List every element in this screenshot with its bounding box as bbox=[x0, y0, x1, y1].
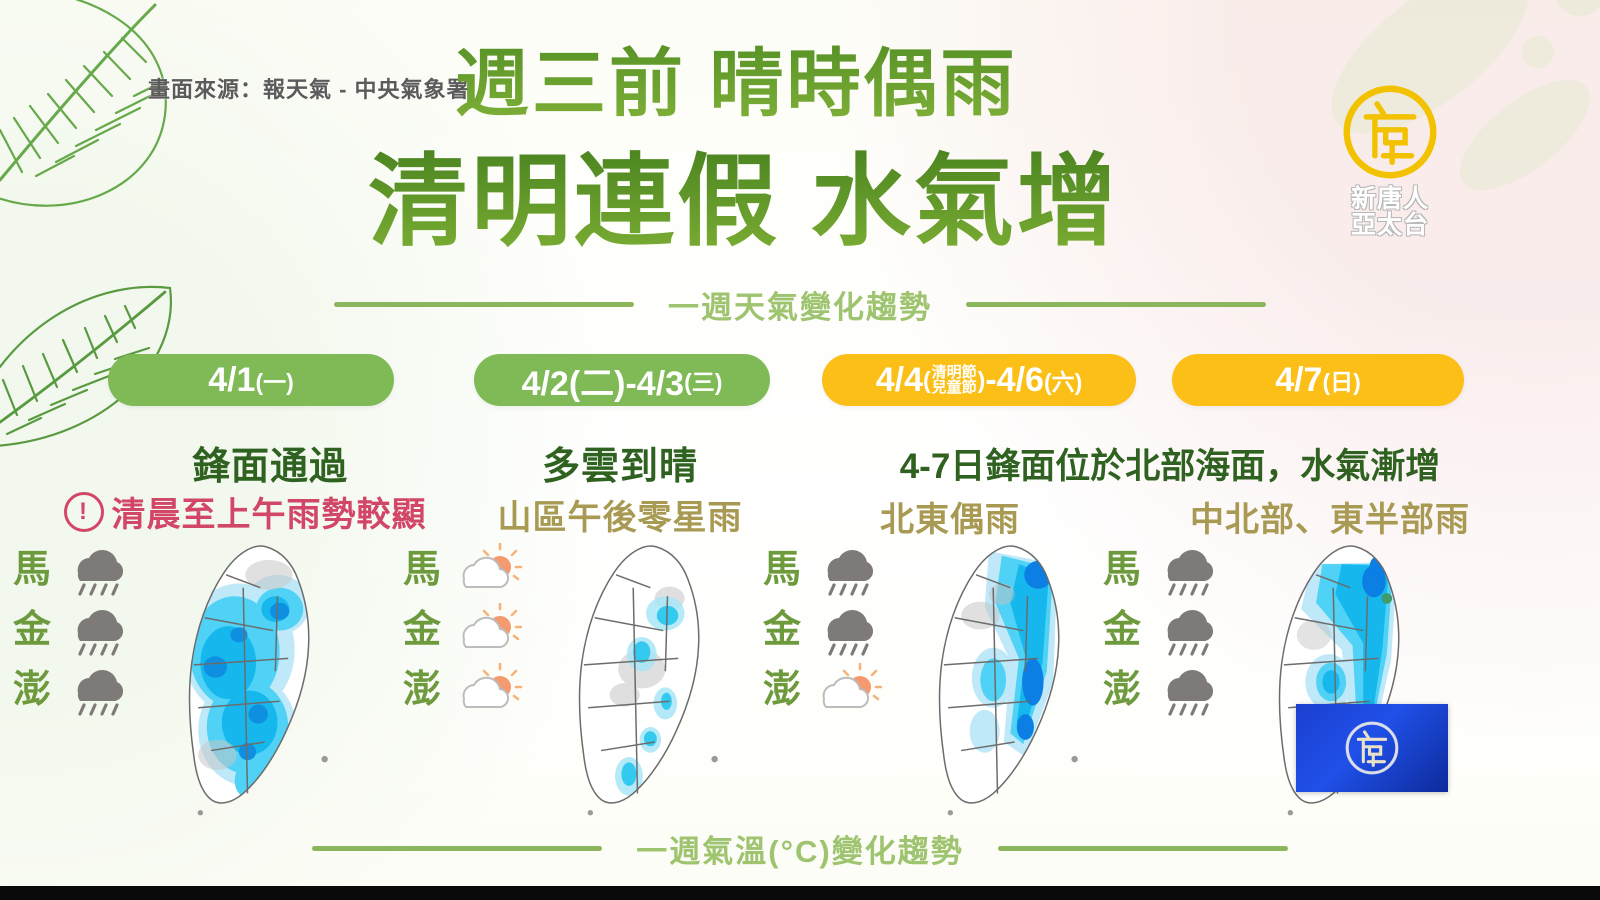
island-row-kinmen: 金 bbox=[400, 600, 530, 660]
island-label-matsu: 馬 bbox=[760, 551, 804, 589]
forecast-column-3: 馬 金 澎 bbox=[760, 540, 1120, 830]
date-pill-1-weekday: (一) bbox=[255, 363, 293, 397]
rain-cloud-icon bbox=[1150, 663, 1222, 717]
tang-circle-icon bbox=[1341, 717, 1403, 779]
island-row-kinmen: 金 bbox=[1100, 600, 1230, 660]
island-label-penghu: 澎 bbox=[10, 671, 54, 709]
date-pill-3-paren-close: ) bbox=[978, 367, 986, 394]
bottom-letterbox-bar bbox=[0, 886, 1600, 900]
taiwan-map-3 bbox=[890, 532, 1105, 832]
date-pill-4[interactable]: 4/7(日) bbox=[1172, 354, 1464, 406]
island-label-matsu: 馬 bbox=[10, 551, 54, 589]
forecast-column-1: 馬 金 澎 bbox=[10, 540, 370, 830]
headline-line-2: 清明連假 水氣增 bbox=[368, 120, 1120, 265]
date-pill-3-paren-open: ( bbox=[923, 367, 931, 394]
island-row-matsu: 馬 bbox=[400, 540, 530, 600]
island-label-kinmen: 金 bbox=[760, 611, 804, 649]
island-row-matsu: 馬 bbox=[760, 540, 890, 600]
date-pill-3-holiday-stack: 清明節 兒童節 bbox=[932, 365, 977, 395]
channel-name-line1: 新唐人 bbox=[1300, 187, 1480, 213]
island-list-4: 馬 金 澎 bbox=[1100, 540, 1230, 720]
date-pill-3-weekday: (六) bbox=[1044, 363, 1082, 397]
island-label-penghu: 澎 bbox=[1100, 671, 1144, 709]
taiwan-map-2 bbox=[530, 532, 745, 832]
island-row-penghu: 澎 bbox=[760, 660, 890, 720]
date-pill-2[interactable]: 4/2(二)-4/3(三) bbox=[474, 354, 770, 406]
col2-summary: 多雲到晴 bbox=[440, 435, 800, 490]
island-row-kinmen: 金 bbox=[760, 600, 890, 660]
source-credit: 畫面來源：報天氣 - 中央氣象署 bbox=[148, 72, 470, 104]
channel-name-line2: 亞太台 bbox=[1300, 213, 1480, 239]
taiwan-rainfall-map-icon bbox=[140, 532, 355, 832]
exclamation-circle-icon: ! bbox=[64, 492, 104, 532]
date-pill-2-date: 4/2(二)-4/3 bbox=[522, 356, 685, 405]
col1-warning-text: 清晨至上午雨勢較顯 bbox=[112, 487, 427, 536]
island-label-kinmen: 金 bbox=[10, 611, 54, 649]
island-label-matsu: 馬 bbox=[400, 551, 444, 589]
rain-cloud-icon bbox=[1150, 603, 1222, 657]
date-pill-3-end-date: -4/6 bbox=[985, 361, 1044, 400]
island-row-matsu: 馬 bbox=[10, 540, 140, 600]
island-label-kinmen: 金 bbox=[400, 611, 444, 649]
island-list-1: 馬 金 澎 bbox=[10, 540, 140, 720]
taiwan-map-1 bbox=[140, 532, 355, 832]
rain-cloud-icon bbox=[60, 603, 132, 657]
temperature-trend-section-header: 一週氣溫(°C)變化趨勢 bbox=[0, 826, 1600, 871]
divider-line-left bbox=[334, 302, 634, 307]
rain-cloud-icon bbox=[1150, 543, 1222, 597]
headline-line-1: 週三前 晴時偶雨 bbox=[455, 24, 1018, 131]
island-list-2: 馬 金 bbox=[400, 540, 530, 720]
date-pill-3[interactable]: 4/4( 清明節 兒童節 )-4/6(六) bbox=[822, 354, 1136, 406]
divider-line-right bbox=[966, 302, 1266, 307]
rain-cloud-icon bbox=[60, 543, 132, 597]
taiwan-rainfall-map-icon bbox=[890, 532, 1105, 832]
weather-trend-section-header: 一週天氣變化趨勢 bbox=[0, 282, 1600, 327]
island-label-penghu: 澎 bbox=[400, 671, 444, 709]
island-row-penghu: 澎 bbox=[10, 660, 140, 720]
island-row-penghu: 澎 bbox=[400, 660, 530, 720]
date-pill-3-holiday-2: 兒童節 bbox=[932, 380, 977, 395]
date-pill-1-date: 4/1 bbox=[208, 361, 255, 400]
col1-summary: 鋒面通過 bbox=[60, 435, 480, 490]
sun-behind-cloud-icon bbox=[450, 663, 522, 717]
date-pill-3-date: 4/4 bbox=[876, 361, 923, 400]
rain-cloud-icon bbox=[810, 603, 882, 657]
island-label-penghu: 澎 bbox=[760, 671, 804, 709]
island-label-matsu: 馬 bbox=[1100, 551, 1144, 589]
divider-line-right bbox=[998, 846, 1288, 851]
sun-behind-cloud-icon bbox=[810, 663, 882, 717]
taiwan-rainfall-map-icon bbox=[530, 532, 745, 832]
island-row-penghu: 澎 bbox=[1100, 660, 1230, 720]
forecast-column-2: 馬 金 bbox=[400, 540, 760, 830]
col1-warning: ! 清晨至上午雨勢較顯 bbox=[10, 487, 480, 536]
divider-line-left bbox=[312, 846, 602, 851]
island-row-kinmen: 金 bbox=[10, 600, 140, 660]
temperature-trend-title: 一週氣溫(°C)變化趨勢 bbox=[636, 826, 963, 871]
weather-trend-title: 一週天氣變化趨勢 bbox=[668, 282, 932, 327]
date-pill-3-holiday-1: 清明節 bbox=[932, 365, 977, 380]
island-label-kinmen: 金 bbox=[1100, 611, 1144, 649]
island-row-matsu: 馬 bbox=[1100, 540, 1230, 600]
sun-behind-cloud-icon bbox=[450, 543, 522, 597]
rain-cloud-icon bbox=[810, 543, 882, 597]
sun-behind-cloud-icon bbox=[450, 603, 522, 657]
date-pill-4-weekday: (日) bbox=[1322, 363, 1360, 397]
date-pill-2-weekday: (三) bbox=[684, 363, 722, 397]
broadcast-weather-graphic: 畫面來源：報天氣 - 中央氣象署 週三前 晴時偶雨 清明連假 水氣增 新唐人 亞… bbox=[0, 0, 1600, 900]
rain-cloud-icon bbox=[60, 663, 132, 717]
col34-summary: 4-7日鋒面位於北部海面，水氣漸增 bbox=[820, 438, 1520, 489]
corner-watermark-box bbox=[1296, 704, 1448, 792]
date-pill-row: 4/1(一) 4/2(二)-4/3(三) 4/4( 清明節 兒童節 )-4/6(… bbox=[0, 354, 1600, 410]
channel-logo-caption: 新唐人 亞太台 bbox=[1300, 187, 1480, 238]
tang-circle-icon bbox=[1336, 78, 1444, 186]
date-pill-1[interactable]: 4/1(一) bbox=[108, 354, 394, 406]
channel-logo: 新唐人 亞太台 bbox=[1300, 78, 1480, 238]
island-list-3: 馬 金 澎 bbox=[760, 540, 890, 720]
date-pill-4-date: 4/7 bbox=[1275, 361, 1322, 400]
